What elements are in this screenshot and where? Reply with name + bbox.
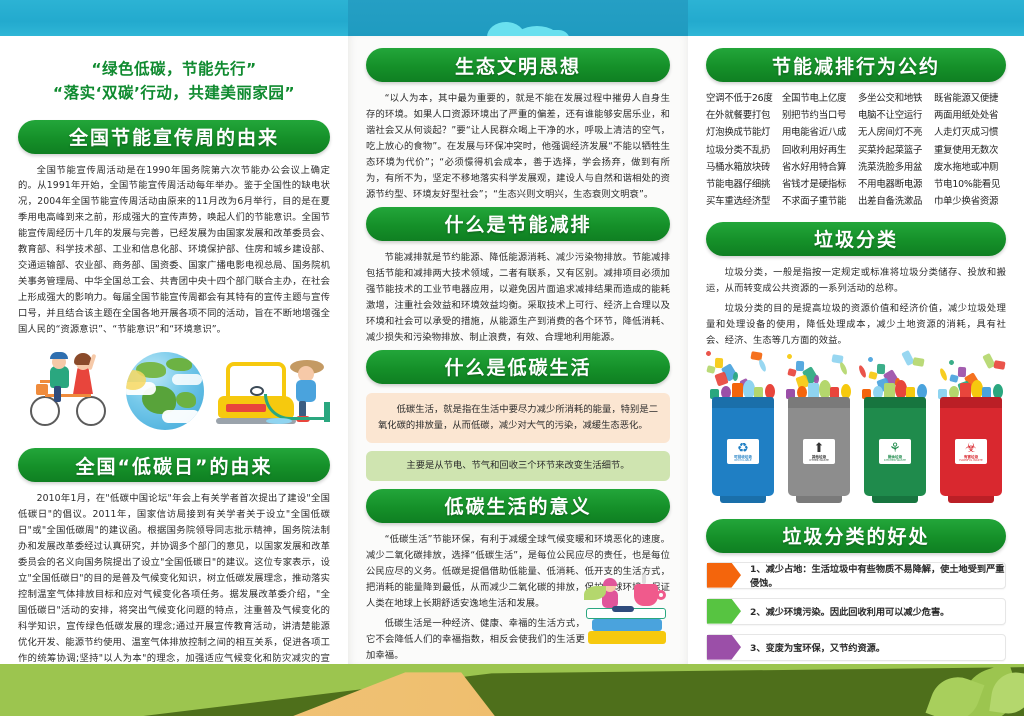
pledge-item: 用电能省近八成 [782, 125, 854, 140]
trash-item [958, 366, 966, 376]
heading-text: 什么是节能减排 [444, 210, 591, 237]
cup-handle [656, 590, 666, 600]
callout-low-carbon-definition: 低碳生活，就是指在生活中要尽力减少所消耗的能量，特别是二氧化碳的排放量，从而低碳… [366, 393, 670, 443]
poster-root: “绿色低碳，节能先行” “落实‘双碳’行动，共建美丽家园” 全国节能宣传周的由来… [0, 0, 1024, 716]
globe-landmass [166, 358, 192, 371]
trash-bin-body: ♻可回收垃圾RECYCLABLE [712, 408, 774, 496]
coffee-cup-icon [634, 584, 658, 606]
pledge-item: 全国节电上亿度 [782, 91, 854, 106]
paragraph-low-carbon-day: 2010年1月，在"低碳中国论坛"年会上有关学者首次提出了建设"全国低碳日"的倡… [18, 491, 330, 683]
earth-globe-icon [126, 352, 204, 430]
cyclist-body [50, 366, 69, 388]
pledge-item: 节能电器仔细挑 [706, 177, 778, 192]
car-grille [226, 404, 266, 412]
trash-bin-body: ⚘厨余垃圾KITCHEN WASTE [864, 408, 926, 496]
cyclist-leg [54, 386, 61, 402]
passenger-body [73, 368, 93, 394]
section-heading-meaning-of-low-carbon-life: 低碳生活的意义 [366, 489, 670, 523]
poster-slogan: “绿色低碳，节能先行” “落实‘双碳’行动，共建美丽家园” [18, 58, 330, 106]
pledge-item: 既省能源又便捷 [934, 91, 1006, 106]
globe-landmass [176, 392, 196, 408]
person-hair [603, 578, 617, 586]
section-heading-what-is-energy-saving: 什么是节能减排 [366, 207, 670, 241]
trash-bin-body: ☣有害垃圾HARMFUL WASTE [940, 408, 1002, 496]
trash-bin-base [872, 496, 918, 503]
section-heading-garbage-sorting: 垃圾分类 [706, 222, 1006, 256]
pledge-item: 电脑不让空运行 [858, 108, 930, 123]
pledge-item: 灯泡换成节能灯 [706, 125, 778, 140]
section-heading-sorting-benefits: 垃圾分类的好处 [706, 519, 1006, 553]
trash-item [796, 360, 804, 370]
pledge-item: 回收利用好再生 [782, 143, 854, 158]
heading-text: 垃圾分类的好处 [782, 522, 929, 549]
overflow-trash-group [862, 379, 928, 399]
heading-text: 垃圾分类 [814, 225, 898, 252]
trash-item [912, 357, 924, 367]
heading-text: 生态文明思想 [455, 52, 581, 79]
cyclist-cap [50, 352, 68, 359]
book-bottom [588, 631, 666, 644]
pledge-item: 买车重选经济型 [706, 194, 778, 209]
trash-bin-body: ⬆其他垃圾OTHER WASTE [788, 408, 850, 496]
benefit-marker [707, 635, 741, 660]
paragraph-meaning-2: 低碳生活是一种经济、健康、幸福的生活方式，它不会降低人们的幸福指数，相反会使我们… [366, 616, 585, 664]
trash-bin-label: ⚘厨余垃圾KITCHEN WASTE [879, 439, 911, 465]
trash-bin-base [720, 496, 766, 503]
heading-text: 全国“低碳日”的由来 [76, 452, 273, 479]
trash-bin: ⚘厨余垃圾KITCHEN WASTE [864, 397, 926, 503]
bicycle-wheel-front [76, 396, 106, 426]
steam-icon [642, 572, 646, 584]
trash-item [948, 359, 955, 366]
pledge-item: 巾单少换省资源 [934, 194, 1006, 209]
waste-category-icon: ☣ [956, 442, 986, 455]
waste-category-name-en: OTHER WASTE [804, 459, 834, 462]
trash-item [786, 353, 793, 360]
book-middle [592, 619, 662, 631]
pledge-item: 省水好用特合算 [782, 160, 854, 175]
bicycle-frame [45, 394, 91, 397]
middle-panel: 生态文明思想 “以人为本，其中最为重要的，就是不能在发展过程中摧毋人自身生存的环… [348, 36, 688, 664]
pledge-item: 马桶水箱放块砖 [706, 160, 778, 175]
benefit-marker [707, 599, 741, 624]
pledge-item: 不求面子重节能 [782, 194, 854, 209]
illustration-eco-lifestyle [18, 344, 330, 436]
benefit-row: 3、变废为宝环保，又节约资源。 [706, 634, 1006, 661]
pledge-item: 垃圾分类不乱扔 [706, 143, 778, 158]
ground-decoration [0, 664, 1024, 716]
bicycle-basket [36, 384, 48, 395]
paragraph-garbage-sorting-1: 垃圾分类，一般是指按一定规定或标准将垃圾分类储存、投放和搬运，从而转变成公共资源… [706, 265, 1006, 297]
trash-item [858, 364, 868, 378]
slogan-line-2: “落实‘双碳’行动，共建美丽家园” [18, 82, 330, 105]
pledge-item-grid: 空调不低于26度全国节电上亿度多坐公交和地铁既省能源又便捷在外就餐要打包别把节约… [706, 91, 1006, 210]
right-panel: 节能减排行为公约 空调不低于26度全国节电上亿度多坐公交和地铁既省能源又便捷在外… [688, 36, 1024, 664]
trash-bin-lid [864, 397, 926, 408]
leaf-cluster [884, 664, 1024, 716]
trash-item [877, 363, 885, 373]
pledge-item: 多坐公交和地铁 [858, 91, 930, 106]
heading-text: 什么是低碳生活 [444, 353, 591, 380]
trash-item [993, 360, 1005, 370]
benefit-text: 1、减少占地：生活垃圾中有些物质不易降解，使土地受到严重侵蚀。 [741, 563, 1005, 588]
callout-low-carbon-three-aspects: 主要是从节电、节气和回收三个环节来改变生活细节。 [366, 451, 670, 481]
paragraph-what-is-energy-saving: 节能减排就是节约能源、降低能源消耗、减少污染物排放。节能减排包括节能和减排两大技… [366, 250, 670, 346]
pledge-item: 废水拖地或冲厕 [934, 160, 1006, 175]
globe-cloud [172, 374, 202, 385]
waste-category-icon: ♻ [728, 442, 758, 455]
pledge-item: 人走灯灭成习惯 [934, 125, 1006, 140]
heading-text: 全国节能宣传周的由来 [69, 123, 279, 150]
waste-category-name-en: KITCHEN WASTE [880, 459, 910, 462]
waste-category-name-en: HARMFUL WASTE [956, 459, 986, 462]
paragraph-national-energy-week: 全国节能宣传周活动是在1990年国务院第六次节能办公会议上确定的。从1991年开… [18, 163, 330, 339]
overflow-trash-group [710, 379, 776, 399]
benefit-list: 1、减少占地：生活垃圾中有些物质不易降解，使土地受到严重侵蚀。2、减少环境污染。… [706, 562, 1006, 661]
trash-bin: ♻可回收垃圾RECYCLABLE [712, 397, 774, 503]
pledge-item: 无人房间灯不亮 [858, 125, 930, 140]
illustration-reading-person [582, 568, 674, 646]
waste-category-icon: ⚘ [880, 442, 910, 455]
pledge-item: 重复使用无数次 [934, 143, 1006, 158]
heading-text: 低碳生活的意义 [444, 492, 591, 519]
trash-bin-lid [712, 397, 774, 408]
trash-bin-lid [788, 397, 850, 408]
pledge-item: 买菜拎起菜篮子 [858, 143, 930, 158]
globe-cloud [162, 410, 200, 423]
trash-item [705, 350, 712, 357]
trash-item [715, 357, 723, 367]
trash-bin-label: ♻可回收垃圾RECYCLABLE [727, 439, 759, 465]
trash-bin-base [796, 496, 842, 503]
trash-bin: ☣有害垃圾HARMFUL WASTE [940, 397, 1002, 503]
waste-category-name-en: RECYCLABLE [728, 459, 758, 462]
section-heading-what-is-low-carbon-life: 什么是低碳生活 [366, 350, 670, 384]
pledge-item: 出差自备洗漱品 [858, 194, 930, 209]
paragraph-eco-civilization: “以人为本，其中最为重要的，就是不能在发展过程中摧毋人自身生存的环境。如果人口资… [366, 91, 670, 203]
slogan-line-1: “绿色低碳，节能先行” [18, 58, 330, 81]
trash-bin: ⬆其他垃圾OTHER WASTE [788, 397, 850, 503]
trash-bin-label: ⬆其他垃圾OTHER WASTE [803, 439, 835, 465]
trash-item [758, 358, 768, 372]
pledge-item: 节电10%能看见 [934, 177, 1006, 192]
left-panel: “绿色低碳，节能先行” “落实‘双碳’行动，共建美丽家园” 全国节能宣传周的由来… [0, 36, 348, 664]
trash-item [706, 365, 715, 374]
benefit-row: 2、减少环境污染。因此回收利用可以减少危害。 [706, 598, 1006, 625]
pledge-item: 不用电器断电源 [858, 177, 930, 192]
trash-item [867, 356, 874, 363]
benefit-text: 2、减少环境污染。因此回收利用可以减少危害。 [741, 599, 949, 624]
paragraph-garbage-sorting-2: 垃圾分类的目的是提高垃圾的资源价值和经济价值，减少垃圾处理量和处理设备的使用，降… [706, 301, 1006, 349]
person-legs [612, 606, 634, 612]
section-heading-energy-pledge: 节能减排行为公约 [706, 48, 1006, 82]
trash-bin-label: ☣有害垃圾HARMFUL WASTE [955, 439, 987, 465]
pledge-item: 两面用纸处处省 [934, 108, 1006, 123]
waste-category-icon: ⬆ [804, 442, 834, 455]
pledge-item: 在外就餐要打包 [706, 108, 778, 123]
section-heading-national-energy-week: 全国节能宣传周的由来 [18, 120, 330, 154]
overflow-trash-group [938, 379, 1004, 399]
trash-bin-base [948, 496, 994, 503]
illustration-four-trash-bins: ♻可回收垃圾RECYCLABLE⬆其他垃圾OTHER WASTE⚘厨余垃圾KIT… [706, 357, 1006, 509]
trash-item [839, 361, 849, 375]
pledge-item: 省钱才是硬指标 [782, 177, 854, 192]
faucet-icon [324, 402, 330, 422]
pledge-item: 洗菜洗脸多用盆 [858, 160, 930, 175]
section-heading-low-carbon-day: 全国“低碳日”的由来 [18, 448, 330, 482]
heading-text: 节能减排行为公约 [772, 52, 940, 79]
pledge-item: 别把节约当口号 [782, 108, 854, 123]
benefit-marker [707, 563, 741, 588]
benefit-row: 1、减少占地：生活垃圾中有些物质不易降解，使土地受到严重侵蚀。 [706, 562, 1006, 589]
section-heading-eco-civilization: 生态文明思想 [366, 48, 670, 82]
benefit-text: 3、变废为宝环保，又节约资源。 [741, 635, 885, 660]
trash-bin-lid [940, 397, 1002, 408]
trash-item [787, 368, 796, 377]
overflow-trash-group [786, 379, 852, 399]
pledge-item: 空调不低于26度 [706, 91, 778, 106]
